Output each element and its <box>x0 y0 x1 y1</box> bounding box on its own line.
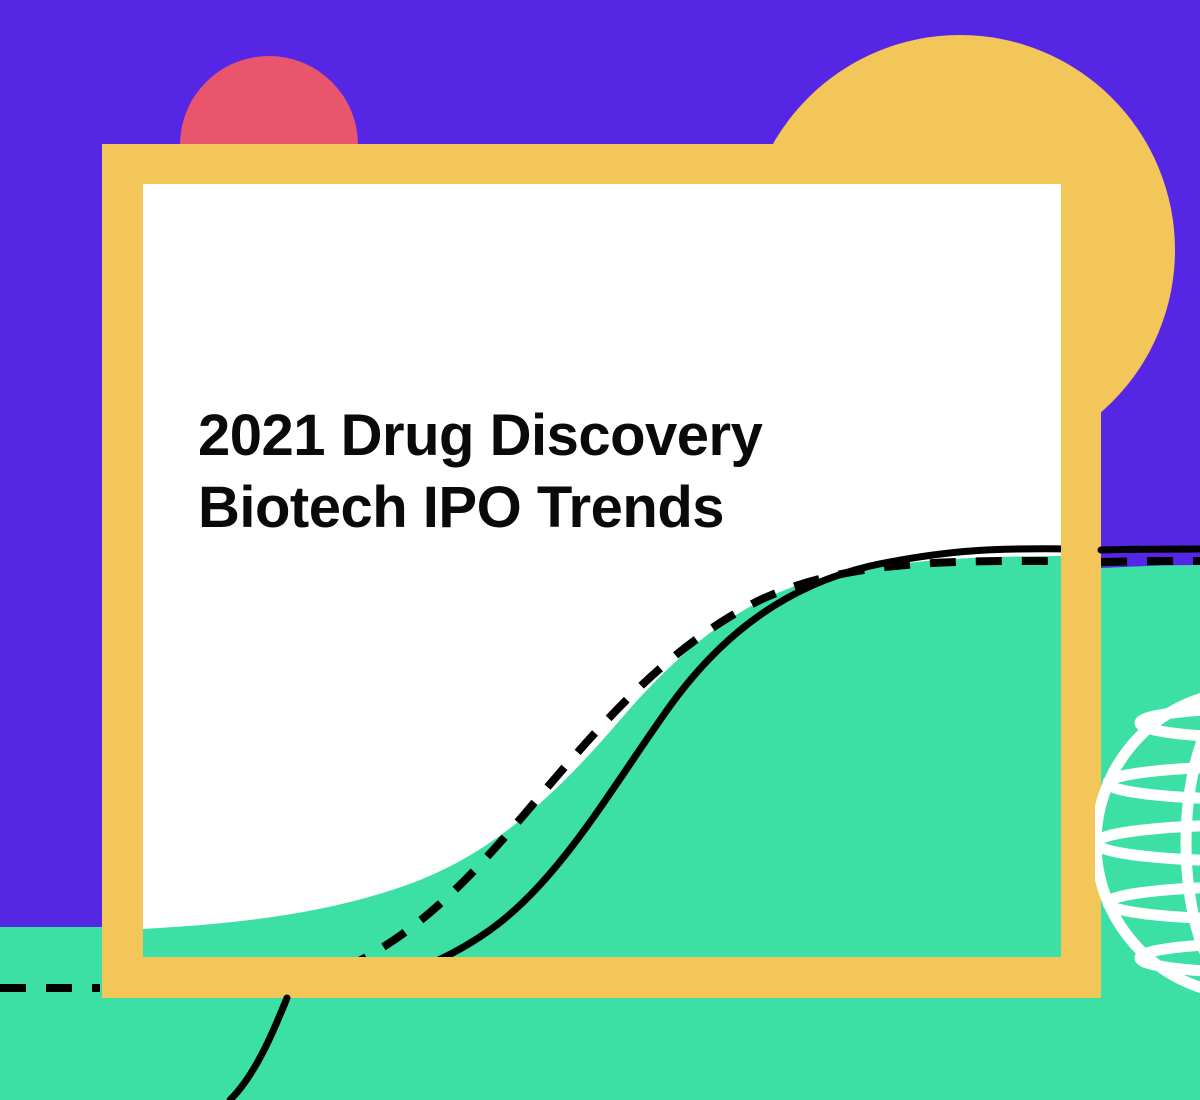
solid-growth-curve-right <box>1101 549 1200 550</box>
poster-canvas: 2021 Drug Discovery Biotech IPO Trends <box>0 0 1200 1100</box>
poster-graphics <box>0 0 1200 1100</box>
